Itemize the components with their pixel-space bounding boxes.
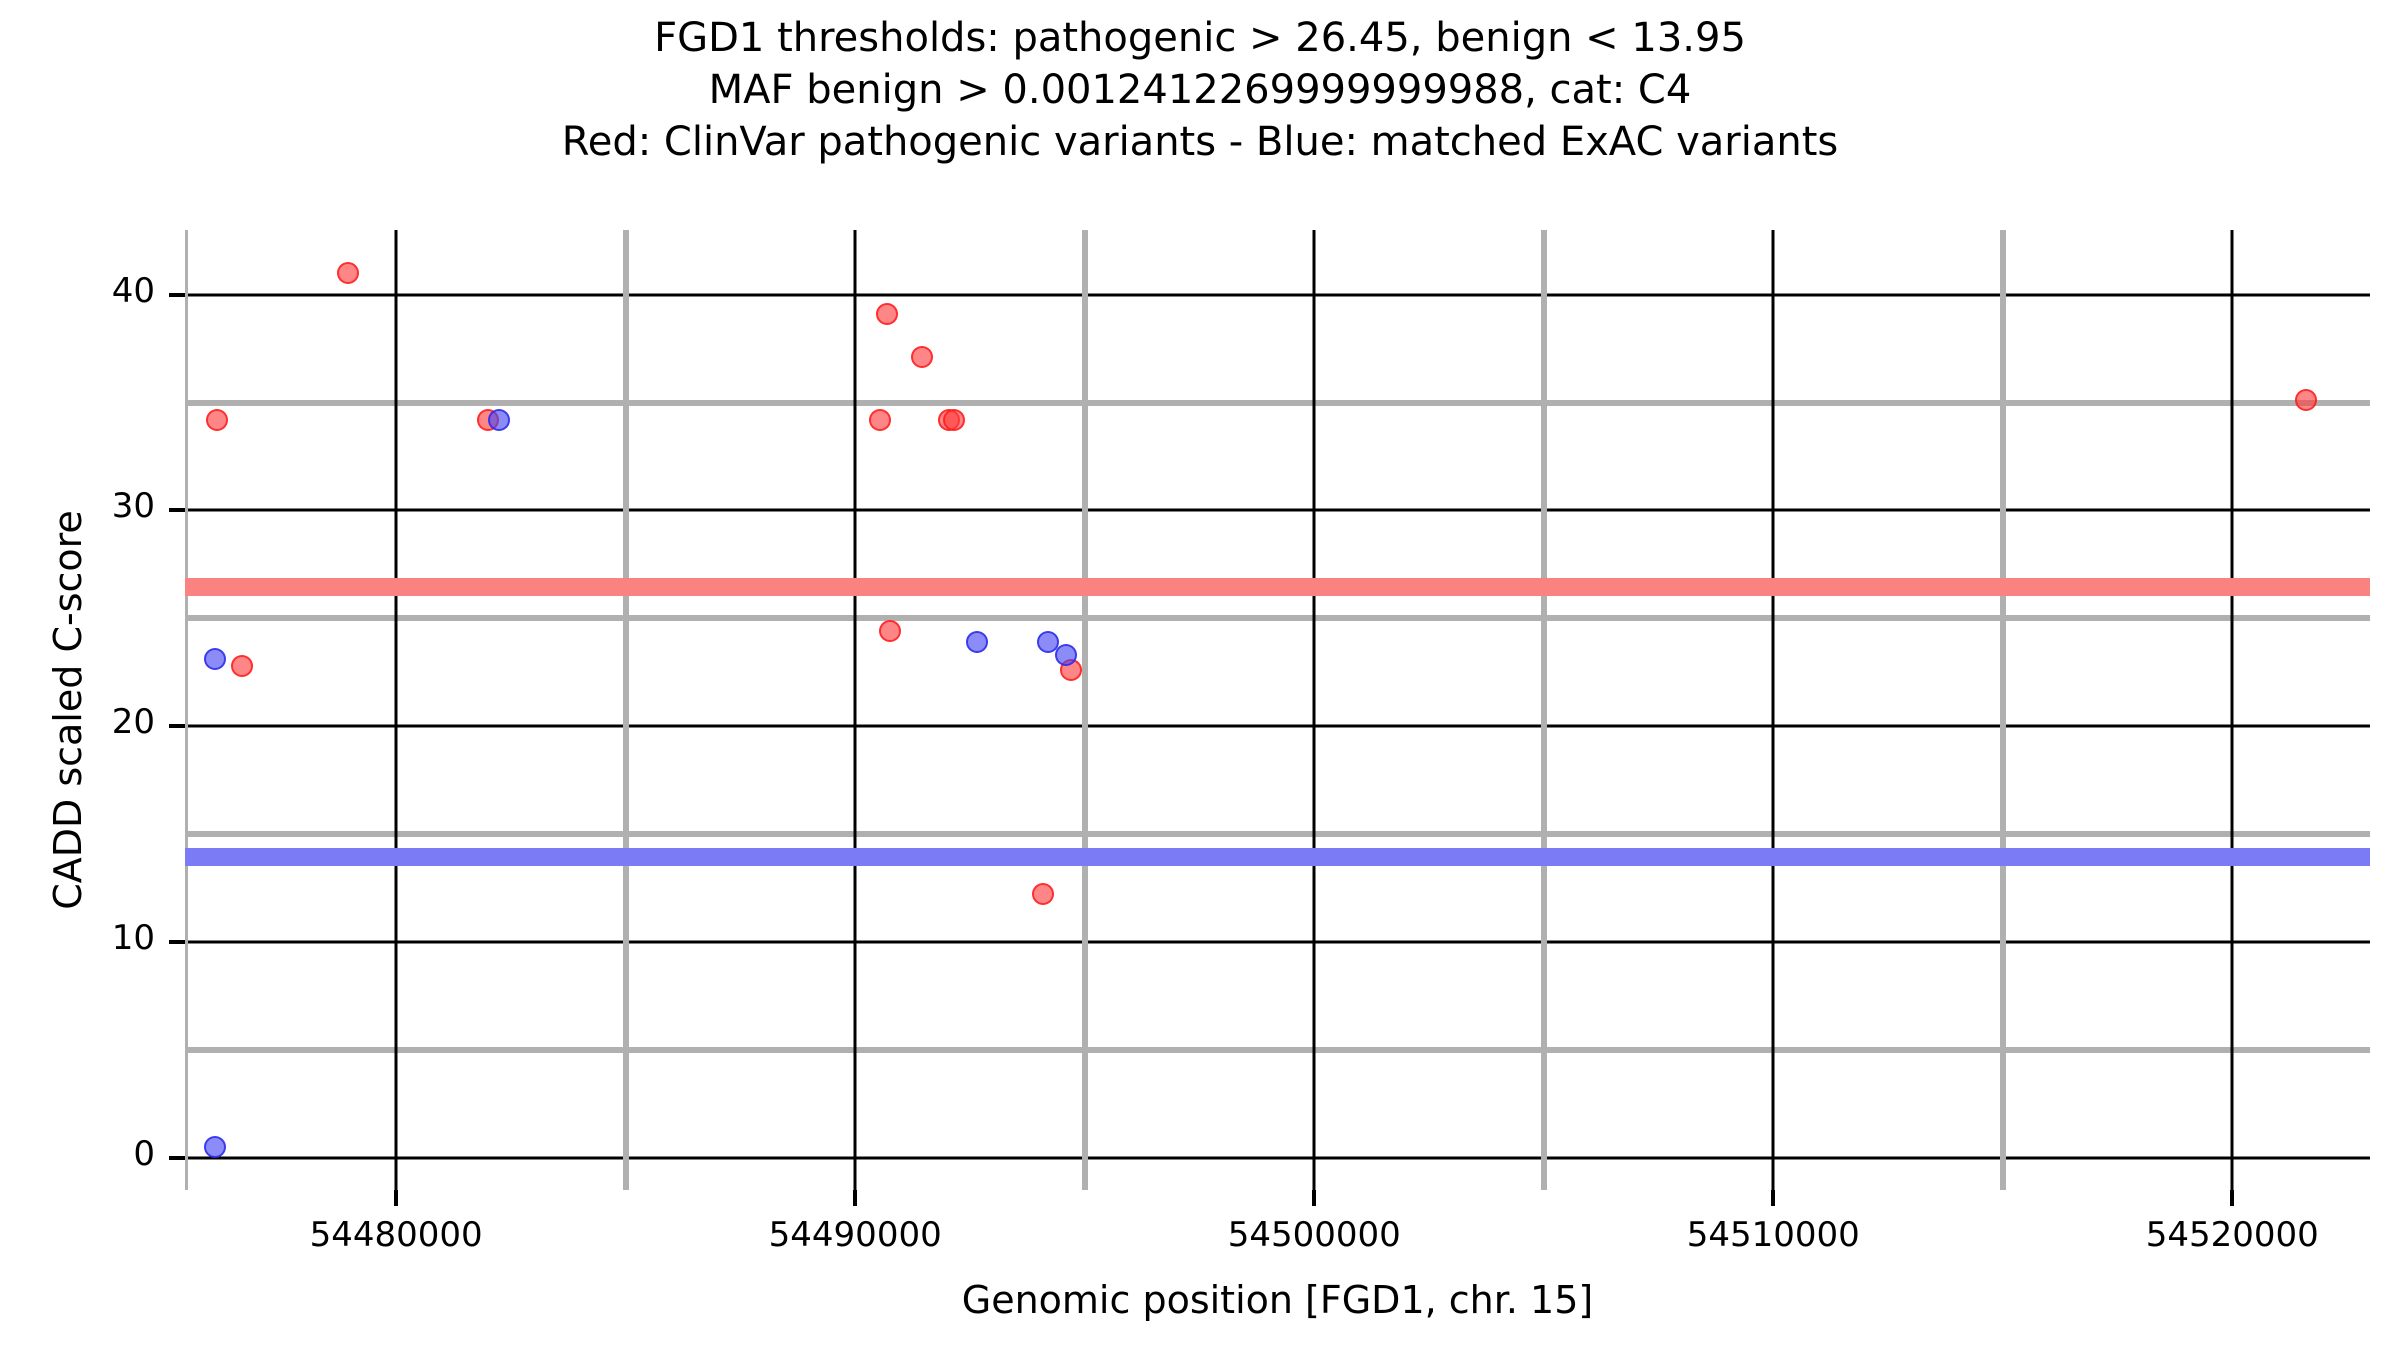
x-tick-mark	[1312, 1190, 1316, 1206]
data-point-pathogenic[interactable]	[876, 303, 898, 325]
y-gridline-minor	[185, 831, 2370, 837]
data-point-pathogenic[interactable]	[879, 620, 901, 642]
y-gridline-major	[185, 725, 2370, 728]
y-tick-mark	[169, 940, 185, 944]
benign-threshold-line	[185, 848, 2370, 866]
data-point-pathogenic[interactable]	[943, 409, 965, 431]
chart-title-line-3: Red: ClinVar pathogenic variants - Blue:…	[0, 116, 2400, 168]
x-gridline-minor	[1541, 230, 1547, 1190]
chart-title-line-1: FGD1 thresholds: pathogenic > 26.45, ben…	[0, 12, 2400, 64]
y-gridline-major	[185, 509, 2370, 512]
x-tick-mark	[2230, 1190, 2234, 1206]
data-point-exac[interactable]	[204, 1136, 226, 1158]
y-axis-label: CADD scaled C-score	[46, 230, 96, 1190]
x-gridline-minor	[1082, 230, 1088, 1190]
x-tick-label: 54480000	[226, 1215, 566, 1255]
y-gridline-major	[185, 293, 2370, 296]
plot-area	[185, 230, 2370, 1190]
y-tick-mark	[169, 508, 185, 512]
data-point-exac[interactable]	[204, 648, 226, 670]
x-gridline-major	[854, 230, 857, 1190]
x-gridline-major	[1313, 230, 1316, 1190]
data-point-pathogenic[interactable]	[869, 409, 891, 431]
x-tick-label: 54510000	[1603, 1215, 1943, 1255]
data-point-pathogenic[interactable]	[206, 409, 228, 431]
x-tick-mark	[1771, 1190, 1775, 1206]
chart-figure: FGD1 thresholds: pathogenic > 26.45, ben…	[0, 0, 2400, 1350]
x-gridline-major	[395, 230, 398, 1190]
x-tick-mark	[853, 1190, 857, 1206]
y-tick-mark	[169, 724, 185, 728]
data-point-exac[interactable]	[966, 631, 988, 653]
pathogenic-threshold-line	[185, 578, 2370, 596]
chart-title: FGD1 thresholds: pathogenic > 26.45, ben…	[0, 12, 2400, 168]
x-tick-label: 54520000	[2062, 1215, 2400, 1255]
data-point-pathogenic[interactable]	[911, 346, 933, 368]
x-gridline-minor	[2000, 230, 2006, 1190]
chart-title-line-2: MAF benign > 0.0012412269999999988, cat:…	[0, 64, 2400, 116]
y-tick-mark	[169, 293, 185, 297]
data-point-pathogenic[interactable]	[231, 655, 253, 677]
x-tick-label: 54500000	[1144, 1215, 1484, 1255]
y-gridline-minor	[185, 400, 2370, 406]
y-gridline-major	[185, 1156, 2370, 1159]
data-point-exac[interactable]	[1055, 644, 1077, 666]
x-gridline-major	[1772, 230, 1775, 1190]
y-gridline-minor	[185, 615, 2370, 621]
y-gridline-major	[185, 940, 2370, 943]
data-point-pathogenic[interactable]	[1032, 883, 1054, 905]
x-tick-label: 54490000	[685, 1215, 1025, 1255]
x-axis-label: Genomic position [FGD1, chr. 15]	[185, 1278, 2370, 1322]
x-gridline-minor	[185, 230, 188, 1190]
data-point-pathogenic[interactable]	[2295, 389, 2317, 411]
x-gridline-minor	[623, 230, 629, 1190]
data-point-pathogenic[interactable]	[337, 262, 359, 284]
y-gridline-minor	[185, 1047, 2370, 1053]
x-gridline-major	[2231, 230, 2234, 1190]
data-point-exac[interactable]	[488, 409, 510, 431]
x-tick-mark	[394, 1190, 398, 1206]
y-tick-mark	[169, 1156, 185, 1160]
